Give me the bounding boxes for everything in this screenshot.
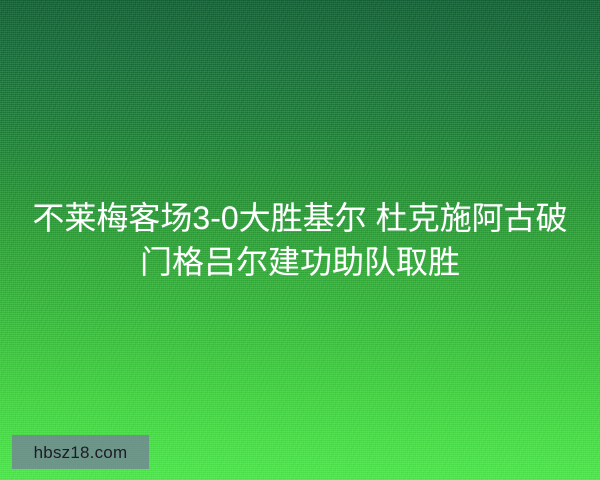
watermark-label: hbsz18.com bbox=[34, 444, 128, 461]
watermark-badge: hbsz18.com bbox=[12, 435, 149, 469]
headline-text: 不莱梅客场3-0大胜基尔 杜克施阿古破门格吕尔建功助队取胜 bbox=[0, 196, 600, 284]
image-canvas: 不莱梅客场3-0大胜基尔 杜克施阿古破门格吕尔建功助队取胜 hbsz18.com bbox=[0, 0, 600, 480]
